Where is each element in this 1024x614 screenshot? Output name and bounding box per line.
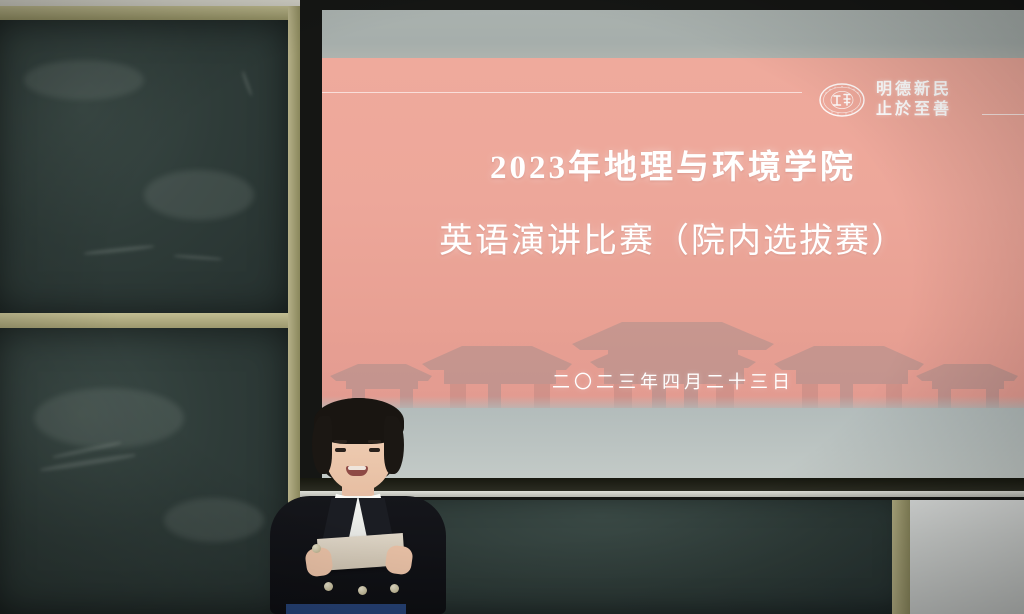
speaker-button-4 [390,584,399,593]
right-blackboard-panel [396,492,908,614]
slide-title: 2023年地理与环境学院 [322,140,1024,188]
right-blackboard-edge [892,486,910,614]
slide-date: 二〇二三年四月二十三日 [322,368,1024,394]
speaker-eye-right [369,448,380,452]
motto-line-1: 明德新民 [876,81,952,99]
speaker-eye-left [335,448,346,452]
speaker-hair-right [384,416,404,474]
speaker-brow-left [334,440,347,443]
blackboard-middle-rail [0,313,290,329]
speaker-button-1 [312,544,321,553]
motto-line-2: 止於至善 [876,101,952,119]
blackboard-panel-lower [0,328,290,614]
university-logo: 明德新民 止於至善 [818,72,1024,128]
speaker-brow-right [368,440,381,443]
university-seal-icon [818,82,866,118]
speaker-foreground-strip [286,604,406,614]
blackboard-panel-upper [0,20,290,315]
blackboard-top-rail [0,6,314,20]
speaker-teeth [348,466,366,470]
classroom-scene: 明德新民 止於至善 2023年地理与环境学院 英语演讲比赛（院内选拔赛） 二〇二… [0,0,1024,614]
slide-top-band [322,10,1024,58]
university-motto: 明德新民 止於至善 [876,81,952,120]
slide-rule-left [322,92,802,93]
speaker-button-3 [358,586,367,595]
slide-subtitle: 英语演讲比赛（院内选拔赛） [322,213,1024,262]
speaker-button-2 [324,582,333,591]
speaker-figure [262,396,452,614]
speaker-hair-left [312,416,332,474]
